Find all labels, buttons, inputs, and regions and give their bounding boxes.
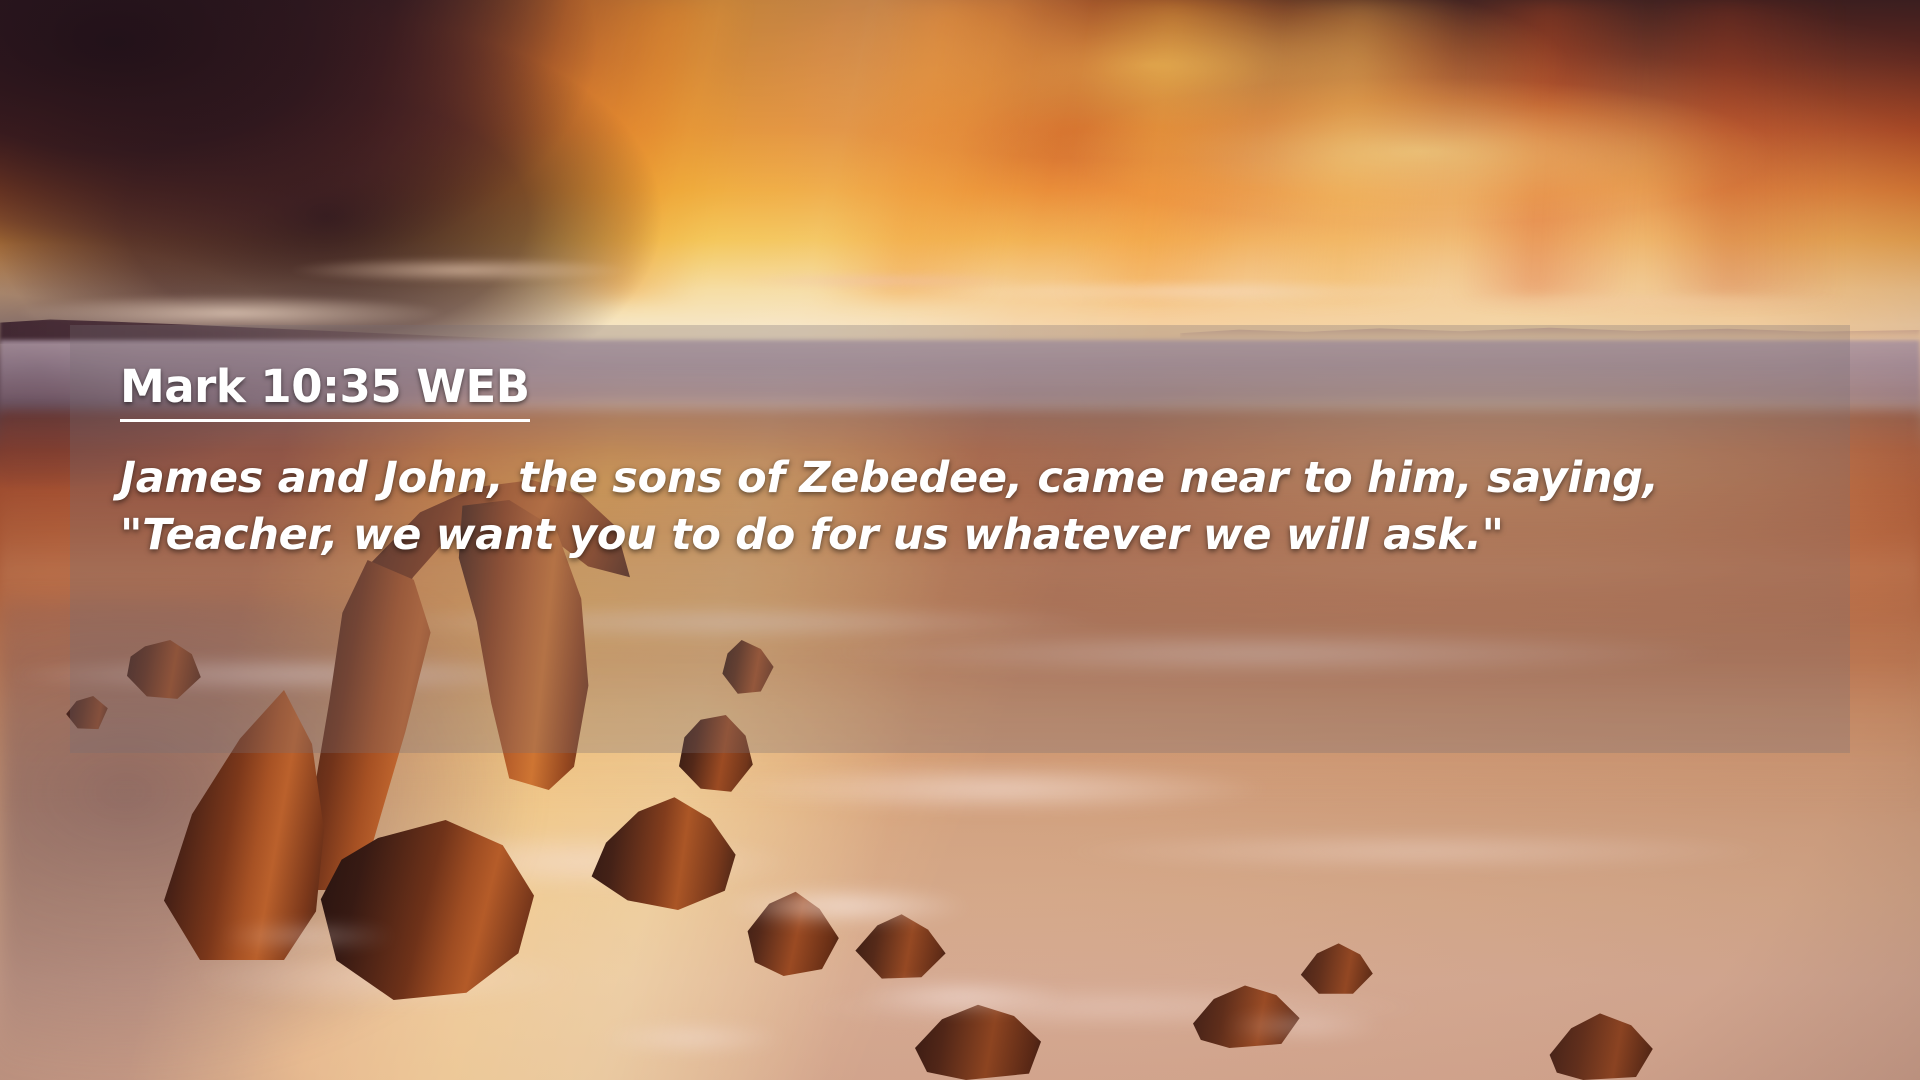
cloud-streaks (0, 0, 1920, 300)
verse-wallpaper-scene: Mark 10:35 WEB James and John, the sons … (0, 0, 1920, 1080)
verse-reference-heading: Mark 10:35 WEB (120, 361, 530, 422)
verse-overlay-panel: Mark 10:35 WEB James and John, the sons … (70, 325, 1850, 753)
verse-body-text: James and John, the sons of Zebedee, cam… (120, 450, 1740, 564)
